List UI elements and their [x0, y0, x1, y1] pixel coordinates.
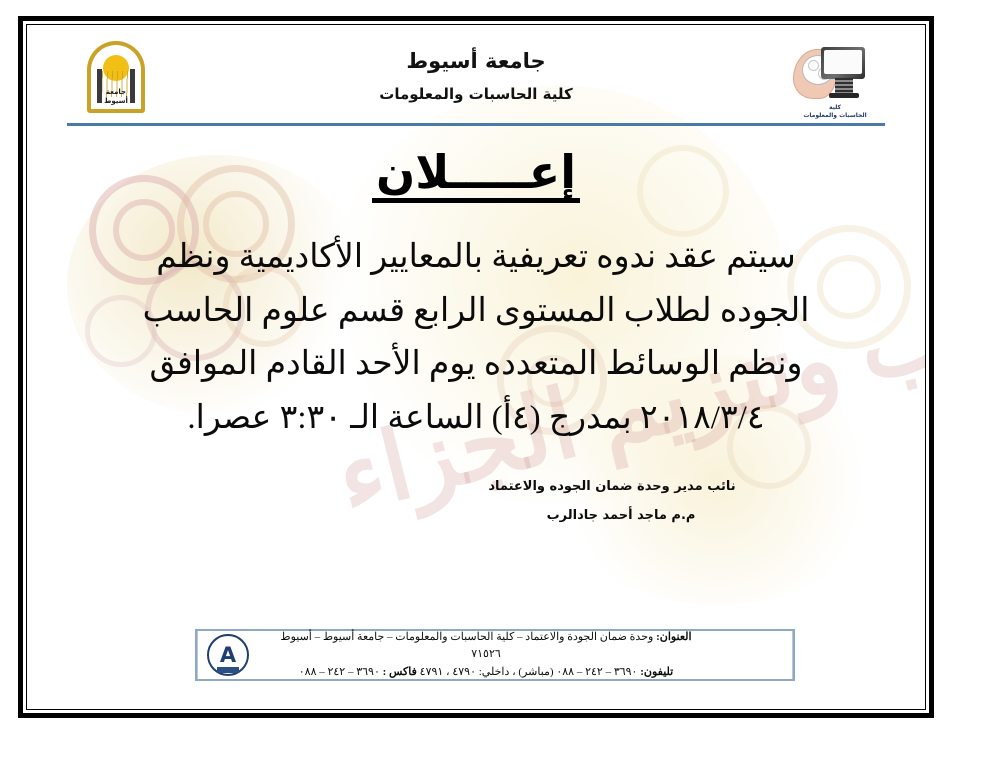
accreditation-letter: A — [220, 645, 236, 666]
title-area: إعـــــلان — [27, 148, 925, 203]
assiut-university-emblem: جامعة أسيوط — [69, 37, 165, 115]
monitor-stand — [835, 78, 853, 94]
page-content: الطلاب وتنزيم الجزاء كلية الحاسبات والمع… — [27, 25, 925, 709]
body-line-3: ونظم الوسائط المتعدده يوم الأحد القادم ا… — [79, 338, 873, 391]
footer-contact-text: العنوان: وحدة ضمان الجودة والاعتماد – كل… — [258, 631, 718, 679]
footer-phone-label: تليفون: — [640, 666, 673, 678]
header-divider — [67, 123, 885, 126]
monitor-base — [829, 93, 859, 98]
footer-address-line: العنوان: وحدة ضمان الجودة والاعتماد – كل… — [266, 629, 706, 663]
signature-name: م.م ماجد أحمد جادالرب — [27, 508, 925, 523]
footer-fax-label: فاكس : — [383, 666, 417, 678]
faculty-logo-caption-line1: كلية — [787, 104, 883, 112]
footer-address-label: العنوان: — [656, 631, 692, 643]
monitor-icon — [821, 47, 865, 79]
body-line-2: الجوده لطلاب المستوى الرابع قسم علوم الح… — [79, 285, 873, 338]
emblem-label: جامعة أسيوط — [95, 88, 137, 105]
emblem-label-line1: جامعة — [95, 88, 137, 96]
announcement-body: سيتم عقد ندوه تعريفية بالمعايير الأكاديم… — [79, 231, 873, 445]
faculty-name: كلية الحاسبات والمعلومات — [165, 85, 787, 103]
monitor-screen — [824, 50, 862, 74]
footer-fax-value: ٣٦٩٠ – ٢٤٢ – ٠٨٨ — [299, 666, 380, 678]
footer-phone-line: تليفون: ٣٦٩٠ – ٢٤٢ – ٠٨٨ (مباشر) ، داخلي… — [266, 664, 706, 681]
naqaae-accreditation-logo: A — [197, 631, 258, 679]
body-line-4: ٢٠١٨/٣/٤ بمدرج (٤أ) الساعة الـ ٣:٣٠ عصرا… — [79, 392, 873, 445]
accreditation-bar — [217, 667, 239, 673]
emblem-arch: جامعة أسيوط — [87, 41, 145, 113]
document-page: الطلاب وتنزيم الجزاء كلية الحاسبات والمع… — [18, 16, 934, 718]
footer-address-value: وحدة ضمان الجودة والاعتماد – كلية الحاسب… — [280, 631, 653, 660]
page-title: إعـــــلان — [372, 148, 580, 203]
faculty-logo-caption-line2: الحاسبات والمعلومات — [787, 112, 883, 120]
faculty-logo-caption: كلية الحاسبات والمعلومات — [787, 104, 883, 119]
faculty-of-computers-and-information-logo: كلية الحاسبات والمعلومات — [787, 39, 883, 117]
footer-blank-cell — [718, 631, 793, 679]
emblem-label-line2: أسيوط — [95, 97, 137, 105]
header-titles: جامعة أسيوط كلية الحاسبات والمعلومات — [165, 41, 787, 103]
signature-role: نائب مدير وحدة ضمان الجوده والاعتماد — [27, 479, 925, 494]
body-line-1: سيتم عقد ندوه تعريفية بالمعايير الأكاديم… — [79, 231, 873, 284]
university-name: جامعة أسيوط — [165, 49, 787, 73]
footer-contact-box: A العنوان: وحدة ضمان الجودة والاعتماد – … — [195, 629, 795, 681]
accreditation-circle-icon: A — [207, 634, 249, 676]
footer-phone-value: ٣٦٩٠ – ٢٤٢ – ٠٨٨ (مباشر) ، داخلي: ٤٧٩٠ ،… — [420, 666, 638, 678]
signature-block: نائب مدير وحدة ضمان الجوده والاعتماد م.م… — [27, 479, 925, 523]
document-header: كلية الحاسبات والمعلومات جامعة أسيوط كلي… — [27, 25, 925, 117]
